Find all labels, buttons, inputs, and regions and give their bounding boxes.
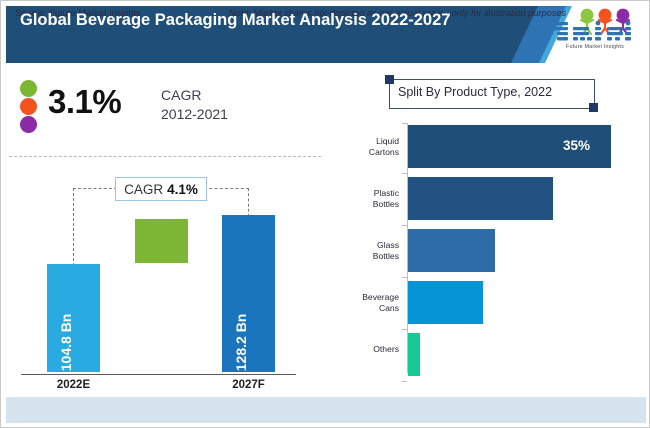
cagr-callout-box: CAGR 4.1% bbox=[115, 177, 207, 201]
corner-marker-top-left bbox=[385, 75, 394, 84]
hbar-glass-bottles bbox=[408, 229, 495, 272]
callout-connector-left bbox=[73, 188, 74, 266]
fmi-logo: Future Market Insights bbox=[549, 8, 641, 60]
cagr-period-label: CAGR 2012-2021 bbox=[161, 86, 228, 124]
bullet-dot-orange bbox=[20, 98, 37, 115]
hbar-label-plastic-bottles: PlasticBottles bbox=[327, 188, 399, 210]
fmi-logo-wordmark: Future Market Insights bbox=[549, 44, 641, 50]
hbar-tickmark bbox=[402, 123, 407, 124]
hbar-tickmark bbox=[402, 173, 407, 174]
hbar-beverage-cans bbox=[408, 281, 483, 324]
hbar-label-beverage-cans: BeverageCans bbox=[327, 292, 399, 314]
column-bar-2027f: US$ 128.2 Bn bbox=[222, 215, 275, 372]
bullet-dot-green bbox=[20, 80, 37, 97]
split-title-text: Split By Product Type, 2022 bbox=[398, 85, 552, 99]
infographic-canvas: Global Beverage Packaging Market Analysi… bbox=[0, 0, 650, 428]
hbar-label-others: Others bbox=[327, 344, 399, 355]
hbar-value-liquid-cartons: 35% bbox=[563, 138, 590, 153]
column-chart-baseline bbox=[21, 374, 296, 375]
callout-connector-top-right bbox=[204, 188, 249, 189]
cagr-callout-value: 4.1% bbox=[167, 182, 198, 197]
hbar-tickmark bbox=[402, 225, 407, 226]
axis-tick-2022e: 2022E bbox=[47, 379, 100, 391]
decorative-green-square bbox=[135, 219, 188, 263]
fmi-logo-mark bbox=[549, 8, 641, 46]
column-bar-2022e: US$ 104.8 Bn bbox=[47, 264, 100, 372]
cagr-label-line1: CAGR bbox=[161, 86, 228, 105]
callout-connector-top-left bbox=[73, 188, 117, 189]
hbar-tickmark bbox=[402, 329, 407, 330]
footer-band bbox=[6, 397, 646, 423]
hbar-tickmark bbox=[402, 381, 407, 382]
section-divider bbox=[9, 156, 321, 157]
corner-marker-bottom-right bbox=[589, 103, 598, 112]
hbar-plastic-bottles bbox=[408, 177, 553, 220]
hbar-tickmark bbox=[402, 277, 407, 278]
split-title-box: Split By Product Type, 2022 bbox=[389, 79, 595, 109]
bullet-dot-purple bbox=[20, 116, 37, 133]
callout-connector-right bbox=[248, 188, 249, 217]
page-title: Global Beverage Packaging Market Analysi… bbox=[20, 10, 490, 31]
cagr-label-line2: 2012-2021 bbox=[161, 105, 228, 124]
cagr-value: 3.1% bbox=[48, 83, 121, 121]
cagr-callout-prefix: CAGR bbox=[124, 182, 163, 197]
axis-tick-2027f: 2027F bbox=[222, 379, 275, 391]
hbar-label-glass-bottles: GlassBottles bbox=[327, 240, 399, 262]
hbar-others bbox=[408, 333, 420, 376]
hbar-label-liquid-cartons: LiquidCartons bbox=[327, 136, 399, 158]
